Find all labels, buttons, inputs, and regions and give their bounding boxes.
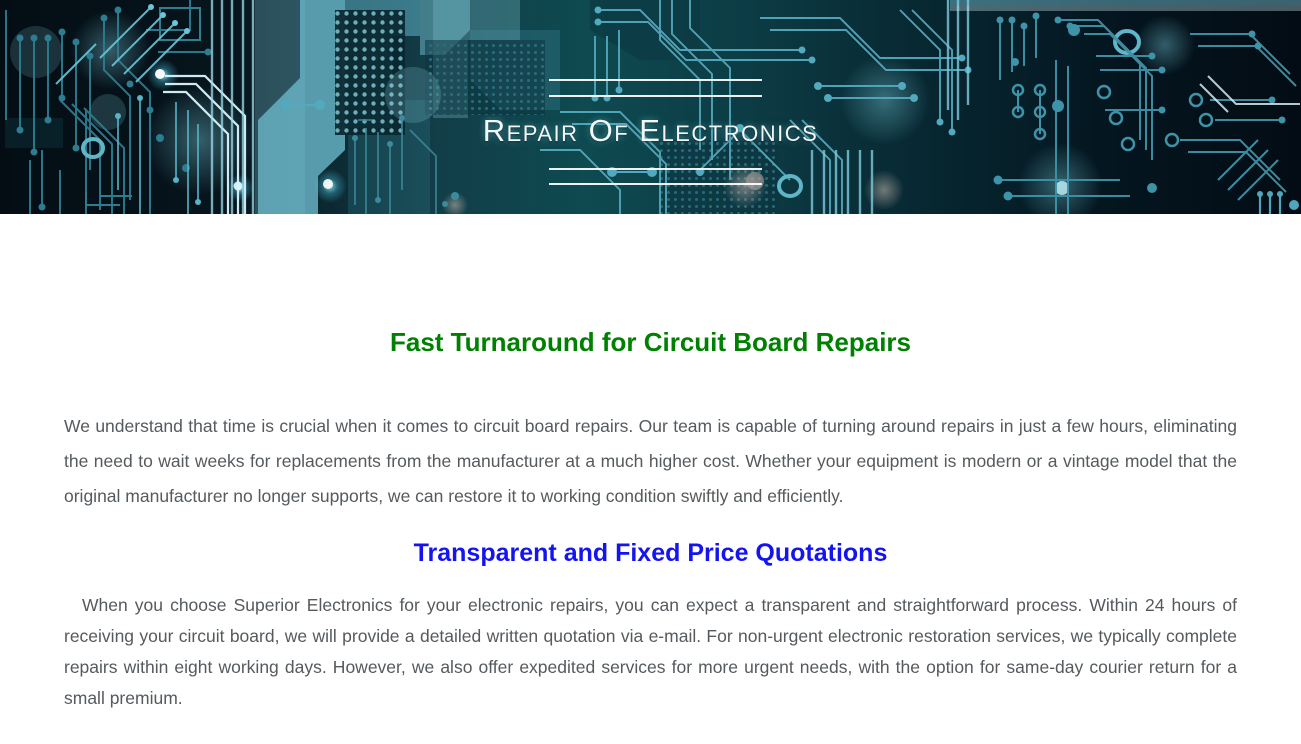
hero-banner: Repair Of Electronics — [0, 0, 1301, 214]
section-body-price-quotations: When you choose Superior Electronics for… — [64, 568, 1237, 714]
section-heading-price-quotations: Transparent and Fixed Price Quotations — [64, 514, 1237, 568]
section-body-fast-turnaround: We understand that time is crucial when … — [64, 358, 1237, 514]
content-container: Fast Turnaround for Circuit Board Repair… — [64, 214, 1237, 714]
page-content: Fast Turnaround for Circuit Board Repair… — [0, 214, 1301, 714]
circuit-board-graphic — [0, 0, 1301, 214]
section-heading-fast-turnaround: Fast Turnaround for Circuit Board Repair… — [64, 214, 1237, 358]
